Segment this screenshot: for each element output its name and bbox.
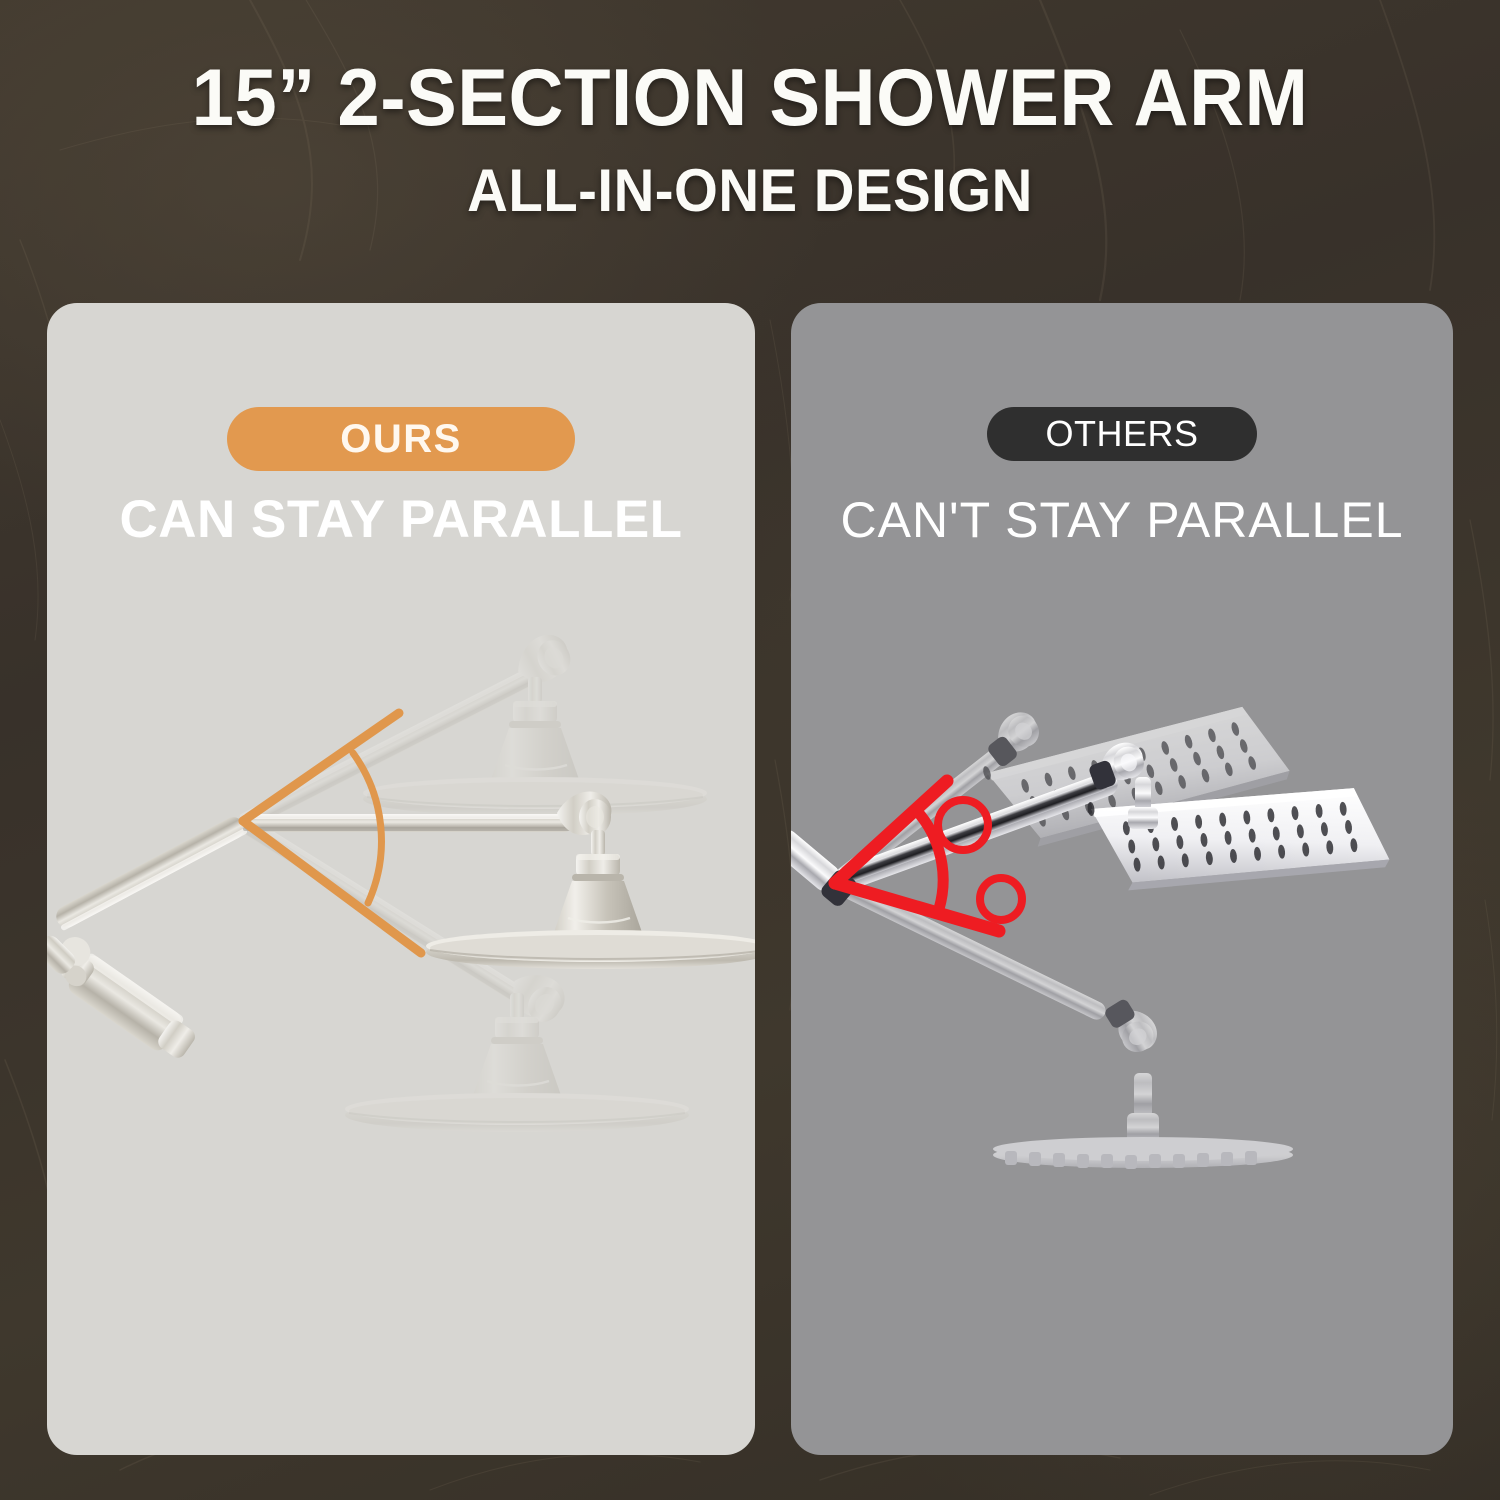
header: 15” 2-SECTION SHOWER ARM ALL-IN-ONE DESI… <box>0 0 1500 221</box>
product-illustration-others <box>791 303 1453 1455</box>
arm-position-raised <box>229 628 707 834</box>
page-subtitle: ALL-IN-ONE DESIGN <box>45 139 1455 221</box>
product-illustration-ours <box>47 303 755 1455</box>
infographic-canvas: 15” 2-SECTION SHOWER ARM ALL-IN-ONE DESI… <box>0 0 1500 1500</box>
page-title: 15” 2-SECTION SHOWER ARM <box>45 0 1455 139</box>
panel-ours: OURS CAN STAY PARALLEL <box>47 303 755 1455</box>
panel-others: OTHERS CAN'T STAY PARALLEL <box>791 303 1453 1455</box>
arm-position-lowered <box>831 875 1293 1169</box>
problem-marker-lower <box>980 878 1022 920</box>
wall-mount-connector <box>47 919 205 1065</box>
